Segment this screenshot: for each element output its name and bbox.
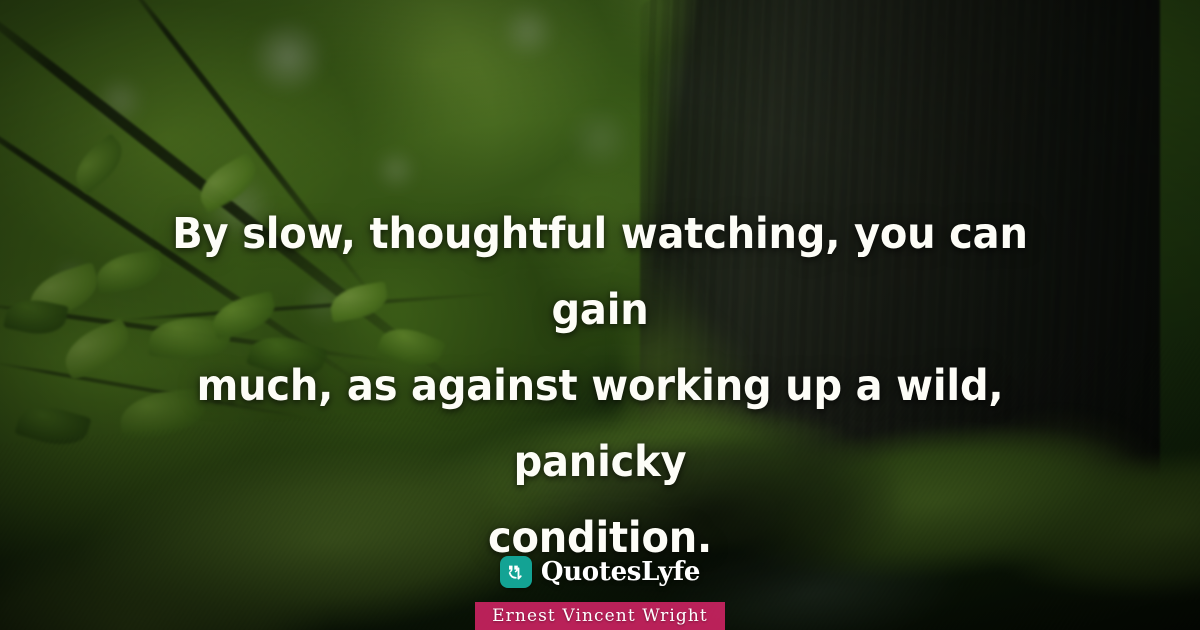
quote-card: By slow, thoughtful watching, you can ga…	[0, 0, 1200, 630]
quote-line: much, as against working up a wild, pani…	[158, 348, 1042, 500]
author-attribution: Ernest Vincent Wright	[475, 602, 725, 630]
quote-text: By slow, thoughtful watching, you can ga…	[158, 196, 1042, 576]
quote-line: By slow, thoughtful watching, you can ga…	[158, 196, 1042, 348]
card-content: By slow, thoughtful watching, you can ga…	[0, 0, 1200, 630]
quote-smiley-icon	[500, 556, 532, 588]
brand-logo[interactable]: QuotesLyfe	[0, 556, 1200, 588]
author-name-badge[interactable]: Ernest Vincent Wright	[475, 602, 725, 630]
brand-name: QuotesLyfe	[541, 557, 700, 587]
